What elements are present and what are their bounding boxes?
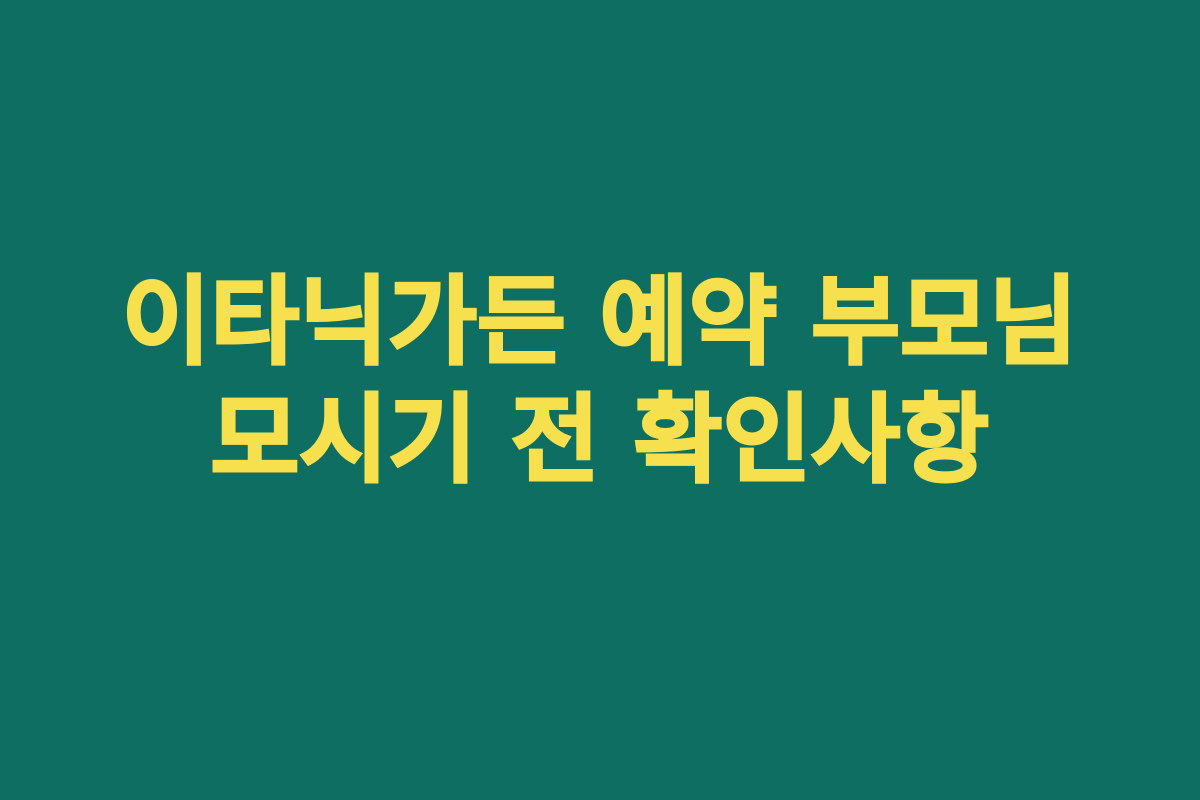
headline-block: 이타닉가든 예약 부모님 모시기 전 확인사항: [0, 263, 1200, 499]
banner-canvas: 이타닉가든 예약 부모님 모시기 전 확인사항: [0, 0, 1200, 800]
headline-line-2: 모시기 전 확인사항: [40, 381, 1160, 499]
headline-line-1: 이타닉가든 예약 부모님: [40, 263, 1160, 381]
